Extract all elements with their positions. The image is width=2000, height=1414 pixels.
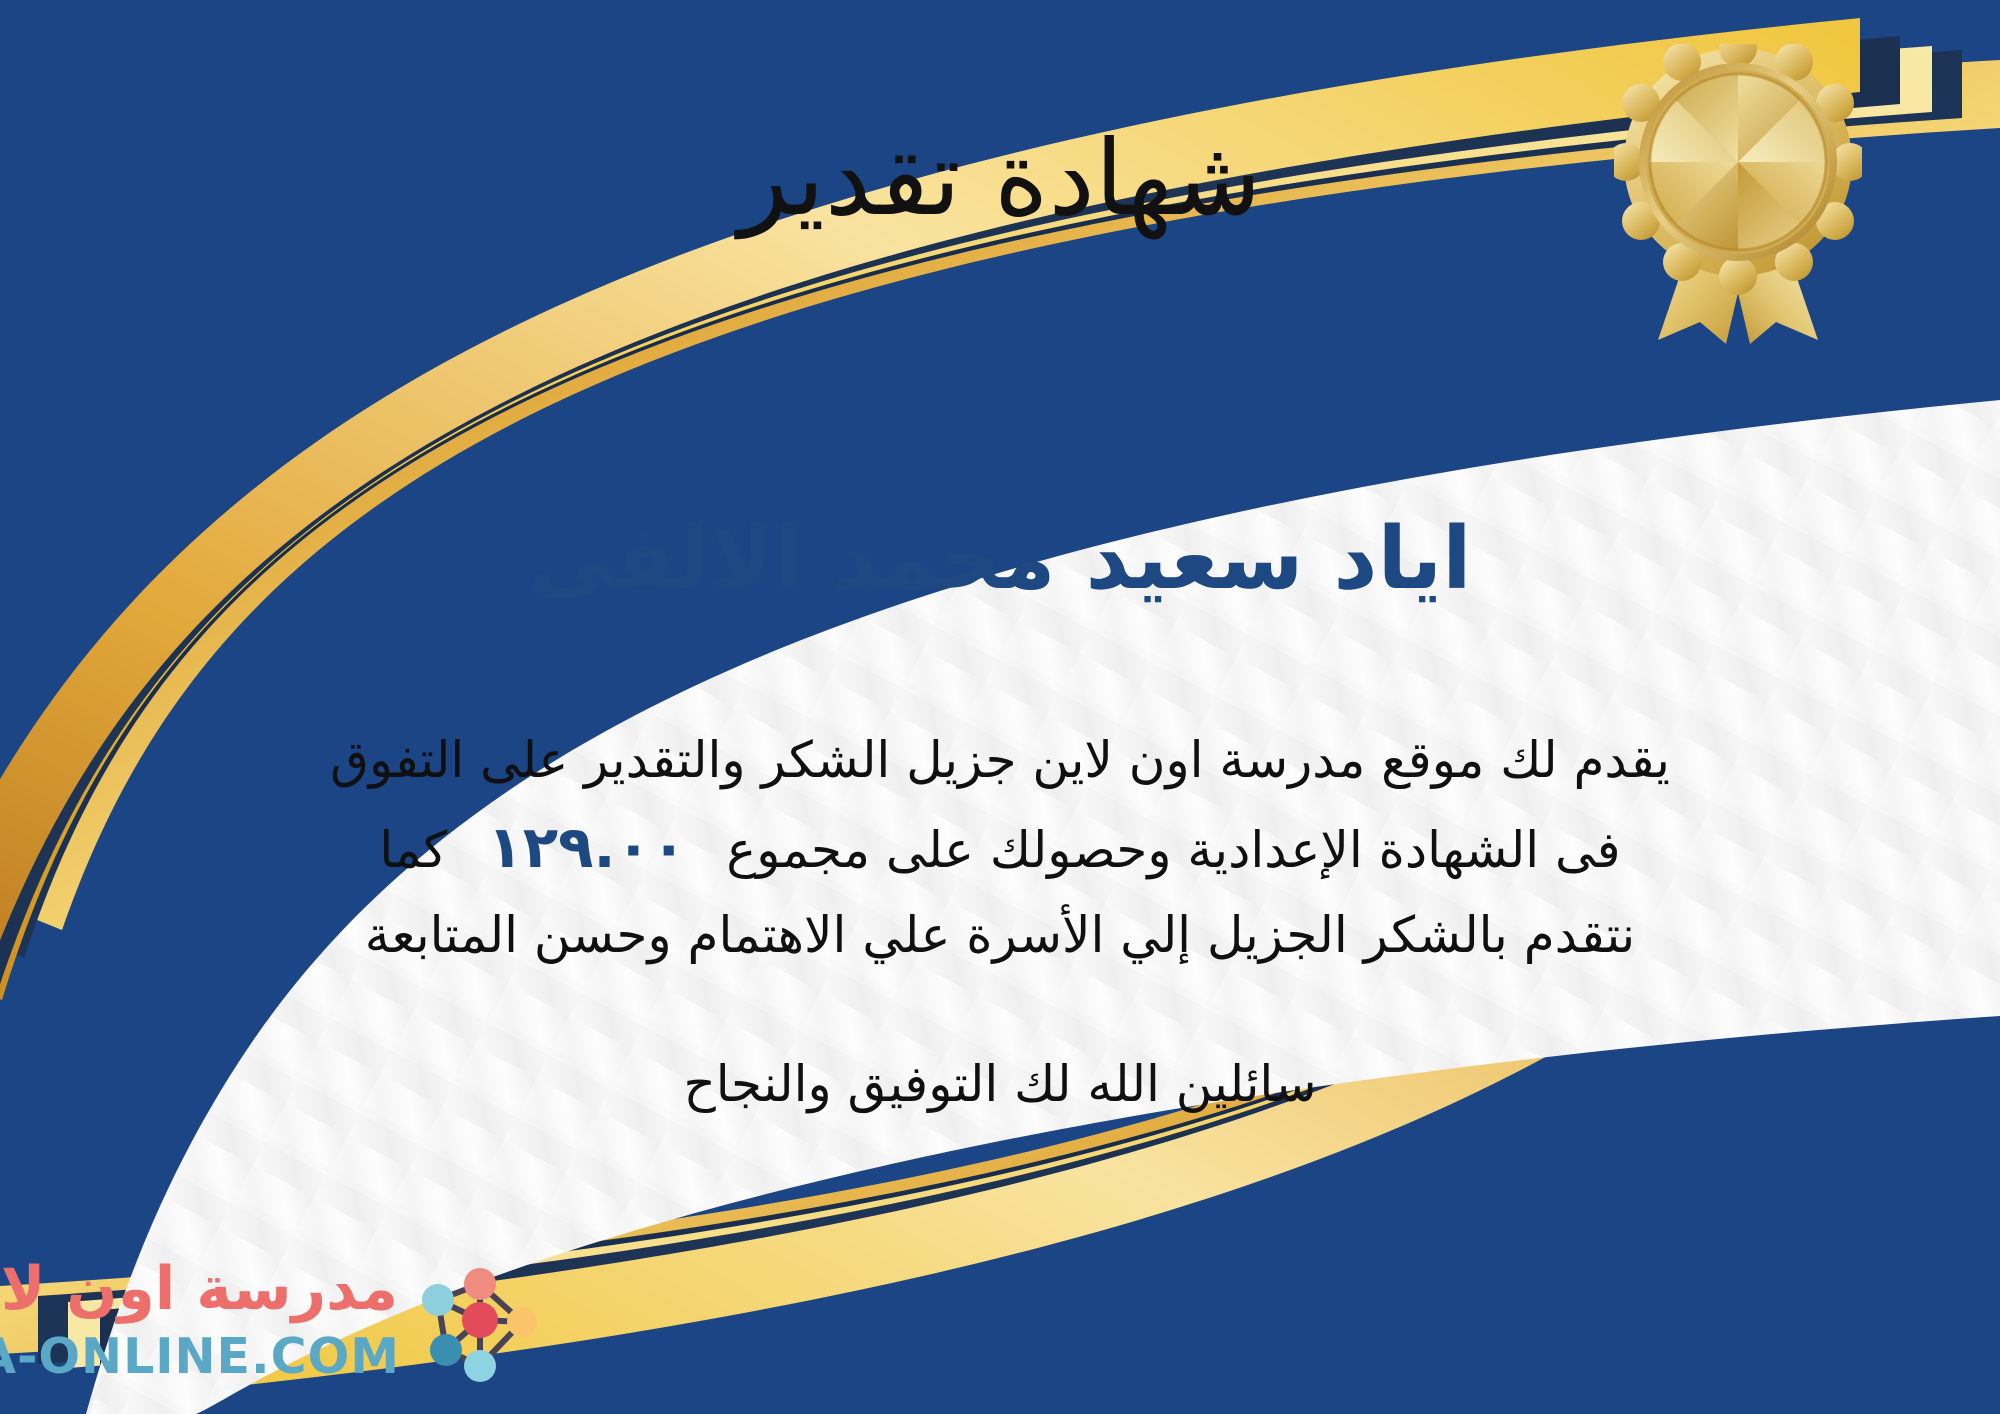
node-light-blue (422, 1284, 454, 1316)
brand-logo[interactable]: مدرسة اون لاين MADRSA-ONLINE.COM (18, 1252, 548, 1402)
body-line-1: يقدم لك موقع مدرسة اون لاين جزيل الشكر و… (60, 720, 1940, 801)
certificate-body: يقدم لك موقع مدرسة اون لاين جزيل الشكر و… (60, 720, 1940, 976)
logo-website-url: MADRSA-ONLINE.COM (0, 1328, 400, 1385)
node-teal (430, 1334, 462, 1366)
node-red (462, 1302, 498, 1338)
closing-line: سائلين الله لك التوفيق والنجاح (0, 1055, 2000, 1113)
body-line-2-prefix: فى الشهادة الإعدادية وحصولك على مجموع (726, 821, 1620, 879)
recipient-name: اياد سعيد محمد الالفى (0, 510, 2000, 609)
node-salmon (464, 1268, 496, 1300)
network-nodes-icon (408, 1258, 548, 1398)
total-score-value: ١٢٩.٠٠ (487, 813, 686, 881)
certificate-title: شهادة تقدير (0, 120, 2000, 236)
body-line-2-suffix: كما (379, 821, 447, 879)
certificate-canvas: شهادة تقدير اياد سعيد محمد الالفى يقدم ل… (0, 0, 2000, 1414)
body-line-3: نتقدم بالشكر الجزيل إلي الأسرة علي الاهت… (60, 895, 1940, 976)
body-line-2: فى الشهادة الإعدادية وحصولك على مجموع١٢٩… (60, 801, 1940, 895)
node-orange (507, 1307, 537, 1337)
logo-arabic-name: مدرسة اون لاين (0, 1254, 398, 1324)
node-cyan (464, 1350, 496, 1382)
